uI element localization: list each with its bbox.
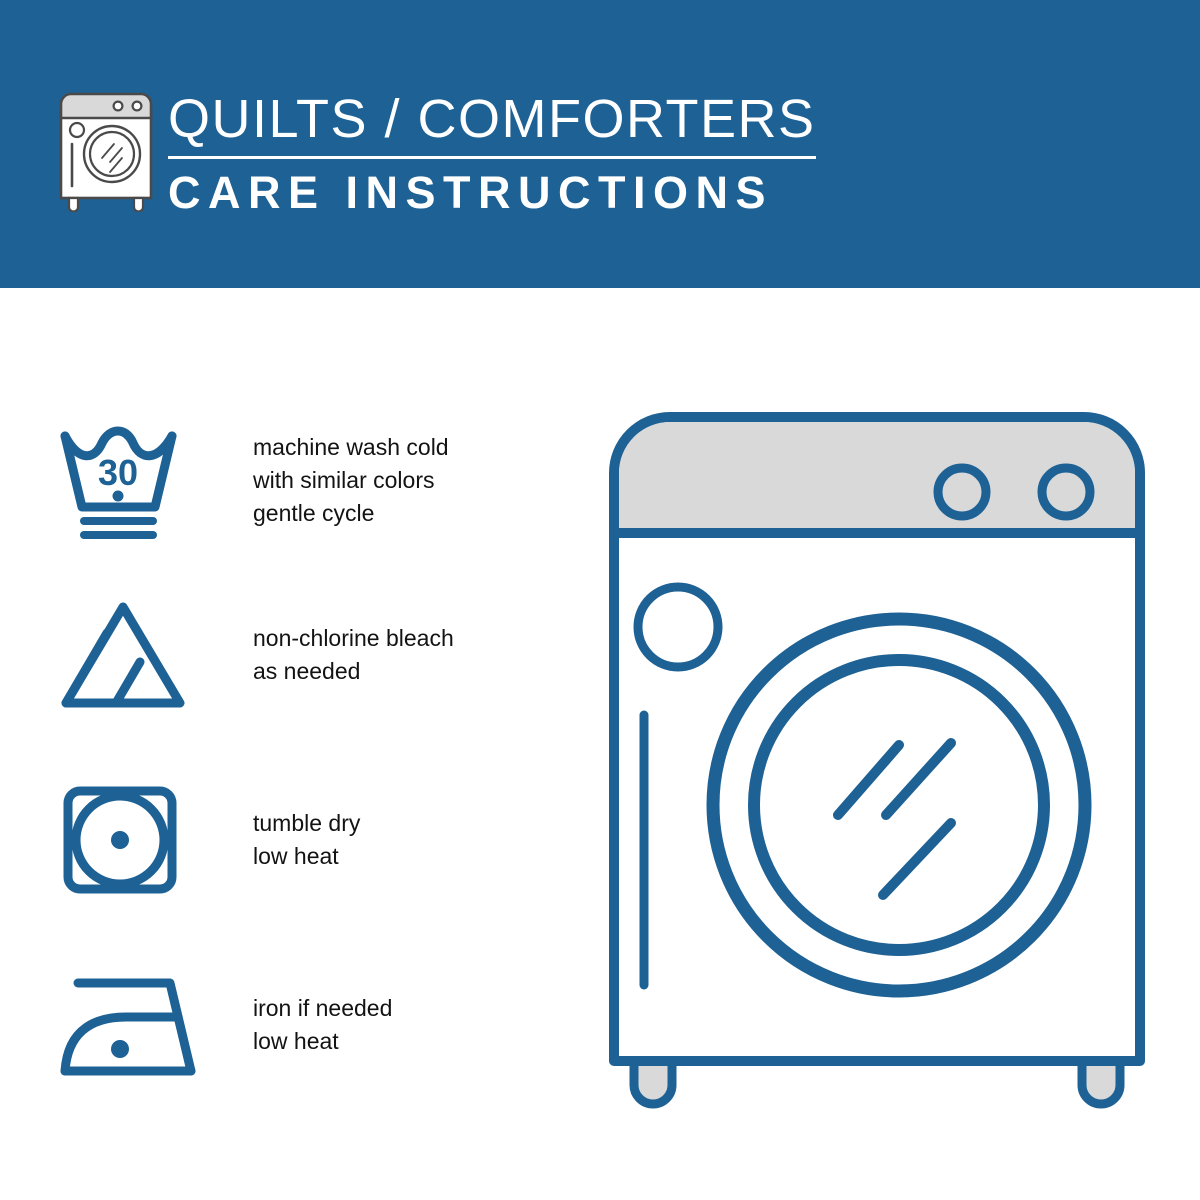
header-banner: QUILTS / COMFORTERS CARE INSTRUCTIONS [0,0,1200,288]
care-text-line: tumble dry [253,807,360,840]
wash-temperature-label: 30 [98,452,138,493]
care-text-line: gentle cycle [253,497,449,530]
care-text-line: low heat [253,840,360,873]
care-instruction-item: tumble dry low heat [58,770,538,910]
care-instruction-text: iron if needed low heat [253,992,392,1058]
care-instruction-item: iron if needed low heat [58,955,538,1095]
care-text-line: machine wash cold [253,431,449,464]
title-divider [168,156,816,159]
page-title: QUILTS / COMFORTERS CARE INSTRUCTIONS [168,88,828,221]
front-load-washing-machine-illustration [606,405,1166,1120]
tumble-dry-low-icon [58,784,198,896]
care-text-line: low heat [253,1025,392,1058]
care-text-line: non-chlorine bleach [253,622,454,655]
washing-machine-icon [52,82,160,212]
care-instruction-text: tumble dry low heat [253,807,360,873]
title-secondary: CARE INSTRUCTIONS [168,165,828,221]
care-instruction-item: non-chlorine bleach as needed [58,585,538,725]
iron-low-heat-icon [58,973,198,1077]
non-chlorine-bleach-triangle-icon [58,599,198,711]
care-instruction-text: machine wash cold with similar colors ge… [253,431,449,530]
wash-tub-30-gentle-icon: 30 [58,421,198,539]
care-text-line: iron if needed [253,992,392,1025]
care-instruction-item: 30 machine wash cold with similar colors… [58,410,538,550]
care-text-line: as needed [253,655,454,688]
title-primary: QUILTS / COMFORTERS [168,88,828,150]
care-text-line: with similar colors [253,464,449,497]
care-instruction-text: non-chlorine bleach as needed [253,622,454,688]
